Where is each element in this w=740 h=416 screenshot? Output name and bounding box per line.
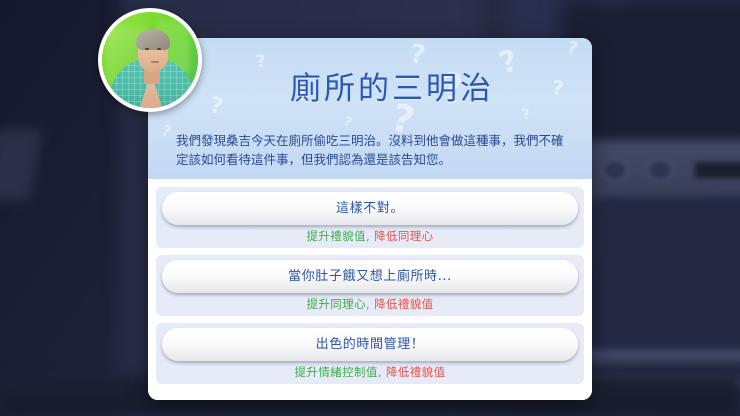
choice-effects-1: 提升禮貌值, 降低同理心 <box>162 225 578 245</box>
background-stove <box>600 198 740 338</box>
choice-effect-separator: , <box>366 229 370 243</box>
choice-row: 當你肚子餓又想上廁所時... 提升同理心, 降低禮貌值 <box>156 255 584 316</box>
background-stove-knob <box>647 159 673 181</box>
dialog-title-text: 廁所的三明治 <box>246 63 494 108</box>
question-mark-icon: ? <box>160 123 174 140</box>
choice-row: 出色的時間管理！ 提升情緒控制值, 降低禮貌值 <box>156 323 584 384</box>
sim-avatar <box>98 8 202 112</box>
avatar-eye <box>145 48 149 50</box>
background-stove-knob <box>602 159 628 181</box>
dialog-header: ? ? ? ? ? ? ? ? ? ? ? ? ? 廁所的三明治 我們發現桑吉今… <box>148 38 592 179</box>
question-mark-icon: ? <box>566 39 580 57</box>
choice-gain-label: 提升情緒控制值 <box>295 365 378 379</box>
choice-effects-3: 提升情緒控制值, 降低禮貌值 <box>162 361 578 381</box>
dialog-body-text: 我們發現桑吉今天在廁所偷吃三明治。沒料到他會做這種事，我們不確定該如何看待這件事… <box>176 131 568 170</box>
choice-loss-label: 降低禮貌值 <box>374 297 434 311</box>
avatar-hair <box>136 30 170 50</box>
background-vent <box>695 162 740 178</box>
choice-button-2[interactable]: 當你肚子餓又想上廁所時... <box>162 260 578 293</box>
choice-loss-label: 降低禮貌值 <box>386 365 446 379</box>
question-mark-icon: ? <box>521 107 531 122</box>
choice-row: 這樣不對。 提升禮貌值, 降低同理心 <box>156 187 584 248</box>
avatar-eye <box>157 48 161 50</box>
game-scene-background: ? ? ? ? ? ? ? ? ? ? ? ? ? 廁所的三明治 我們發現桑吉今… <box>0 0 740 416</box>
choice-button-1[interactable]: 這樣不對。 <box>162 192 578 225</box>
avatar-mouth <box>151 61 159 63</box>
background-rail <box>580 350 740 364</box>
choice-list: 這樣不對。 提升禮貌值, 降低同理心 當你肚子餓又想上廁所時... 提升同理心,… <box>148 179 592 400</box>
choice-effects-2: 提升同理心, 降低禮貌值 <box>162 293 578 313</box>
event-dialog-panel: ? ? ? ? ? ? ? ? ? ? ? ? ? 廁所的三明治 我們發現桑吉今… <box>148 38 592 400</box>
question-mark-icon: ? <box>342 115 354 130</box>
choice-gain-label: 提升同理心 <box>306 297 366 311</box>
choice-effect-separator: , <box>366 297 370 311</box>
choice-button-3[interactable]: 出色的時間管理！ <box>162 328 578 361</box>
choice-effect-separator: , <box>378 365 382 379</box>
choice-gain-label: 提升禮貌值 <box>306 229 366 243</box>
choice-loss-label: 降低同理心 <box>374 229 434 243</box>
dialog-title: 廁所的三明治 <box>148 63 592 108</box>
